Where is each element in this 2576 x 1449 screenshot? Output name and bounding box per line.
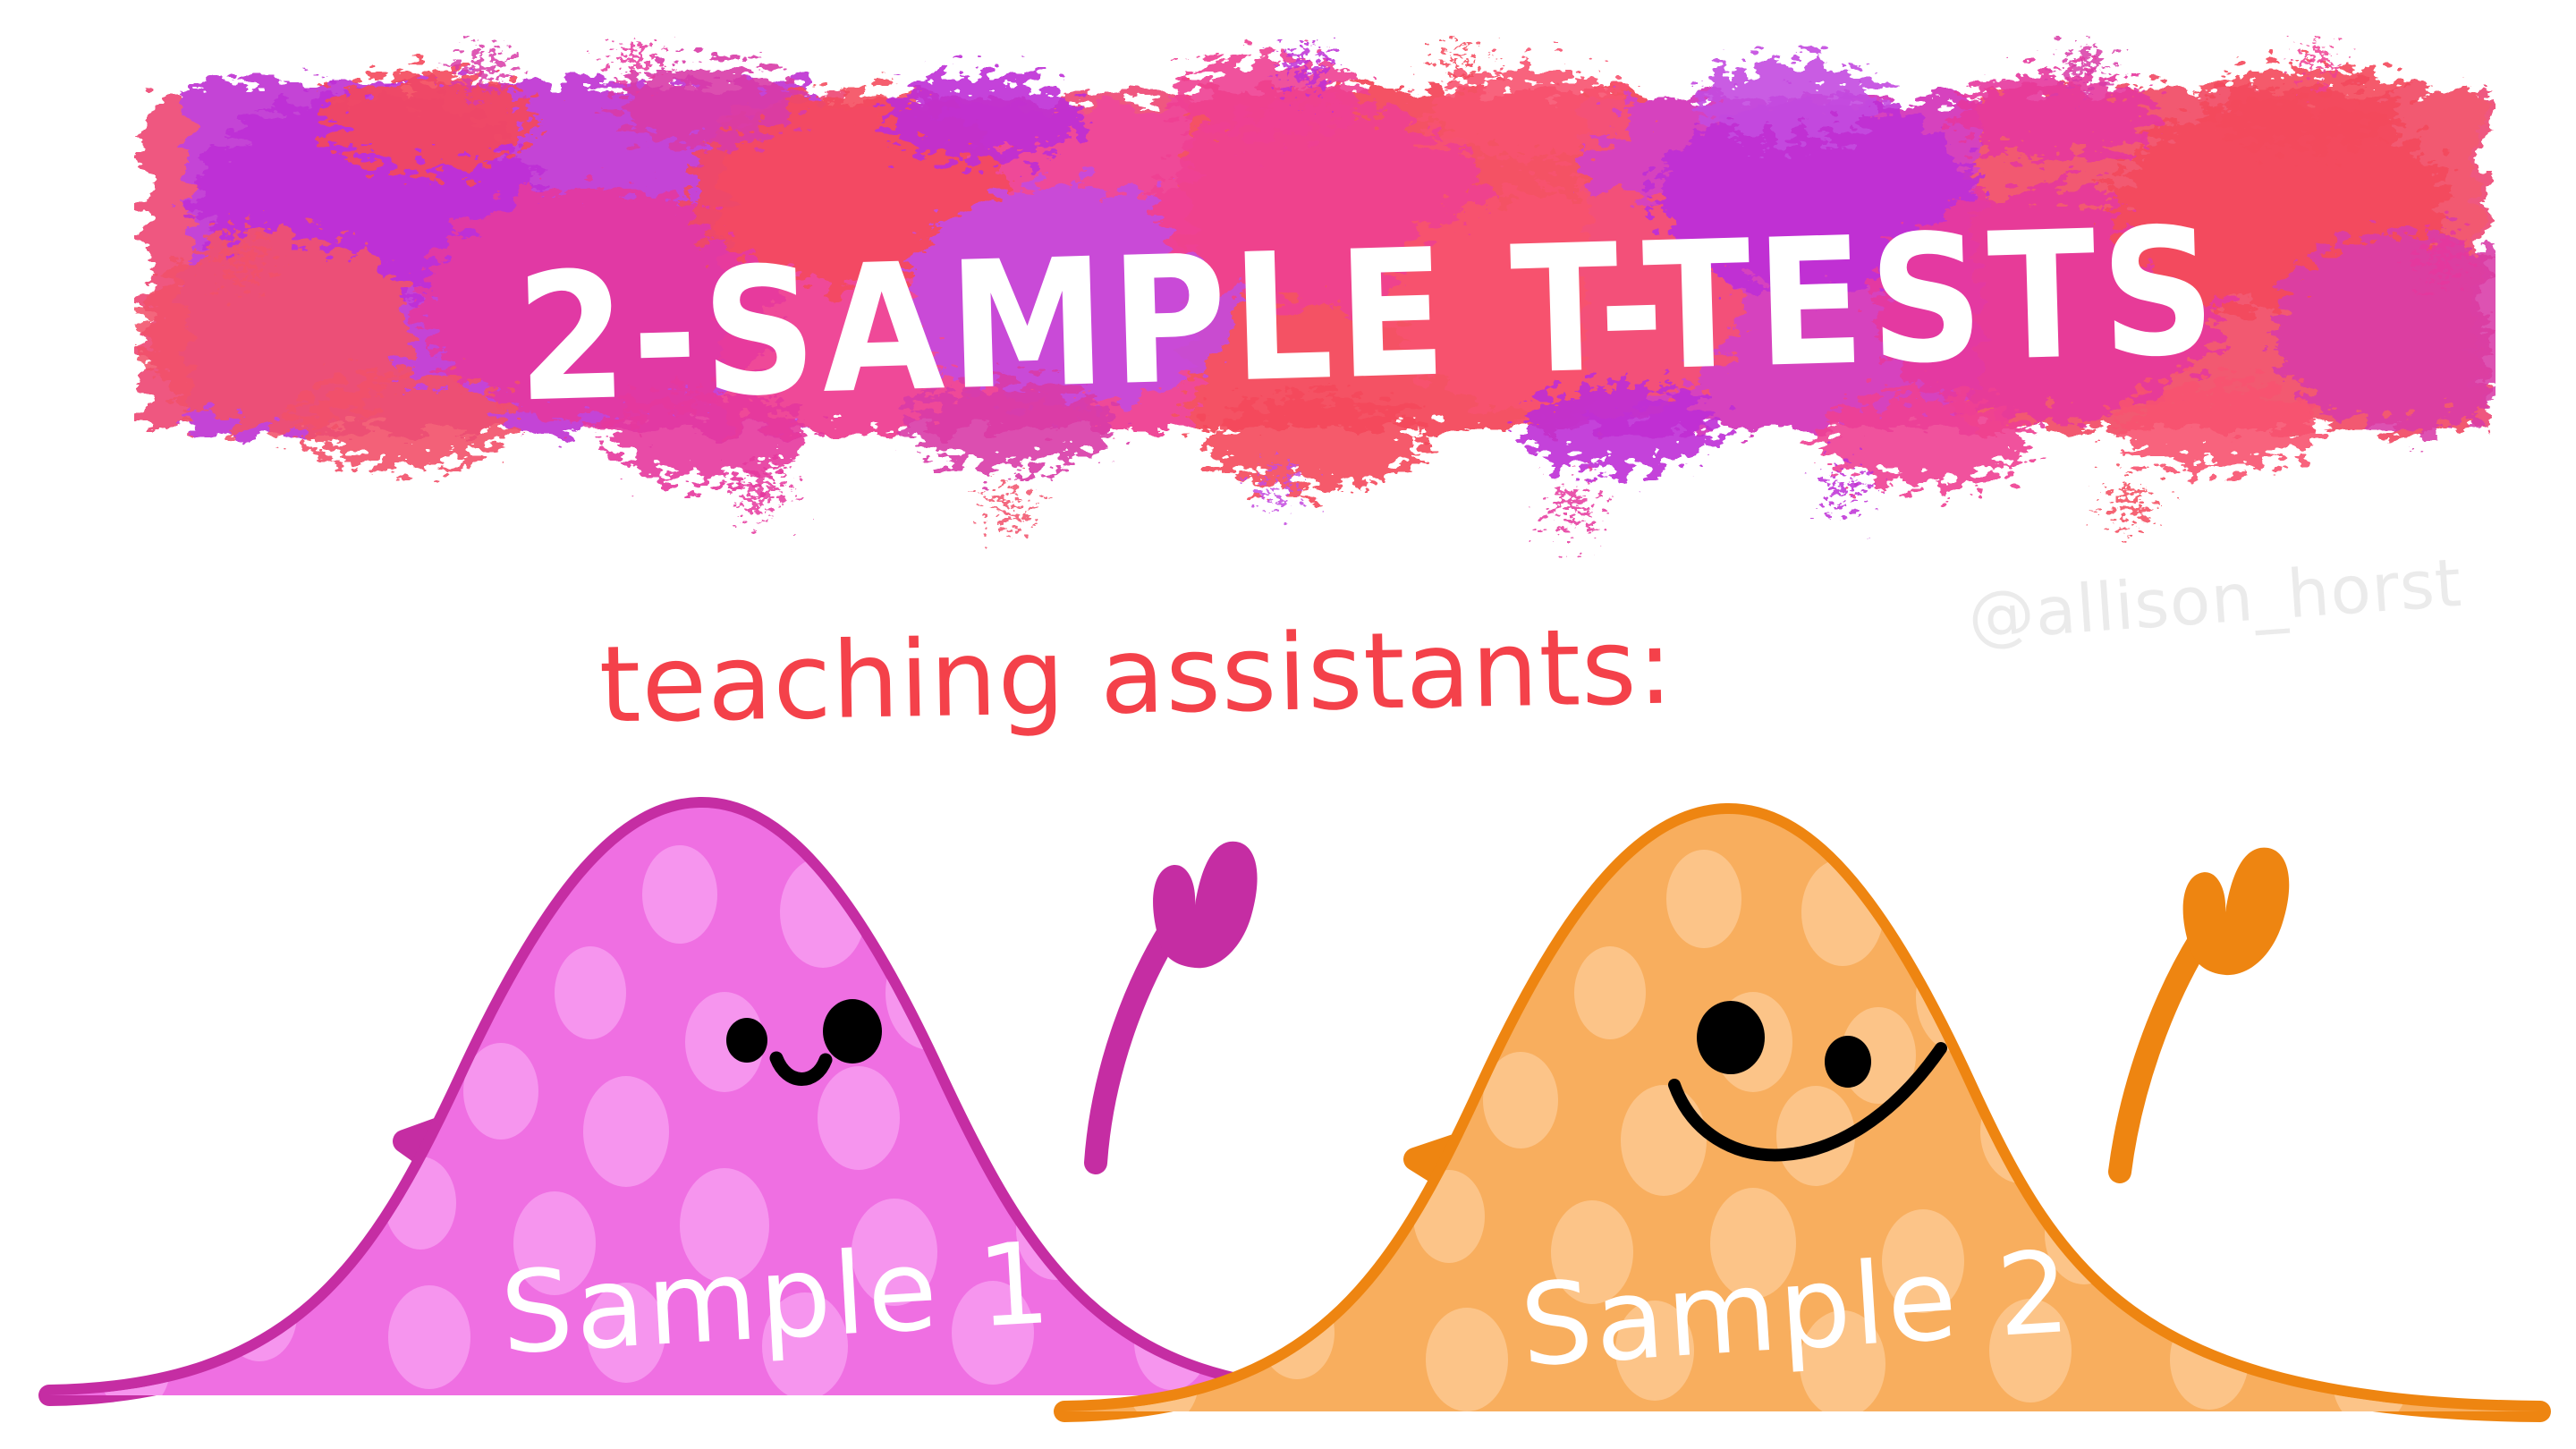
sample1-right-eye [823,999,882,1063]
sample2-right-eye [1825,1036,1871,1088]
sample1-left-eye [726,1018,767,1063]
sample2-left-eye [1697,1001,1765,1074]
characters-illustration [0,0,2576,1449]
illustration-canvas: 2-Sample t-tests teaching assistants: @a… [0,0,2576,1449]
sample2-right-arm [2120,848,2289,1172]
sample1-right-arm [1096,842,1258,1163]
